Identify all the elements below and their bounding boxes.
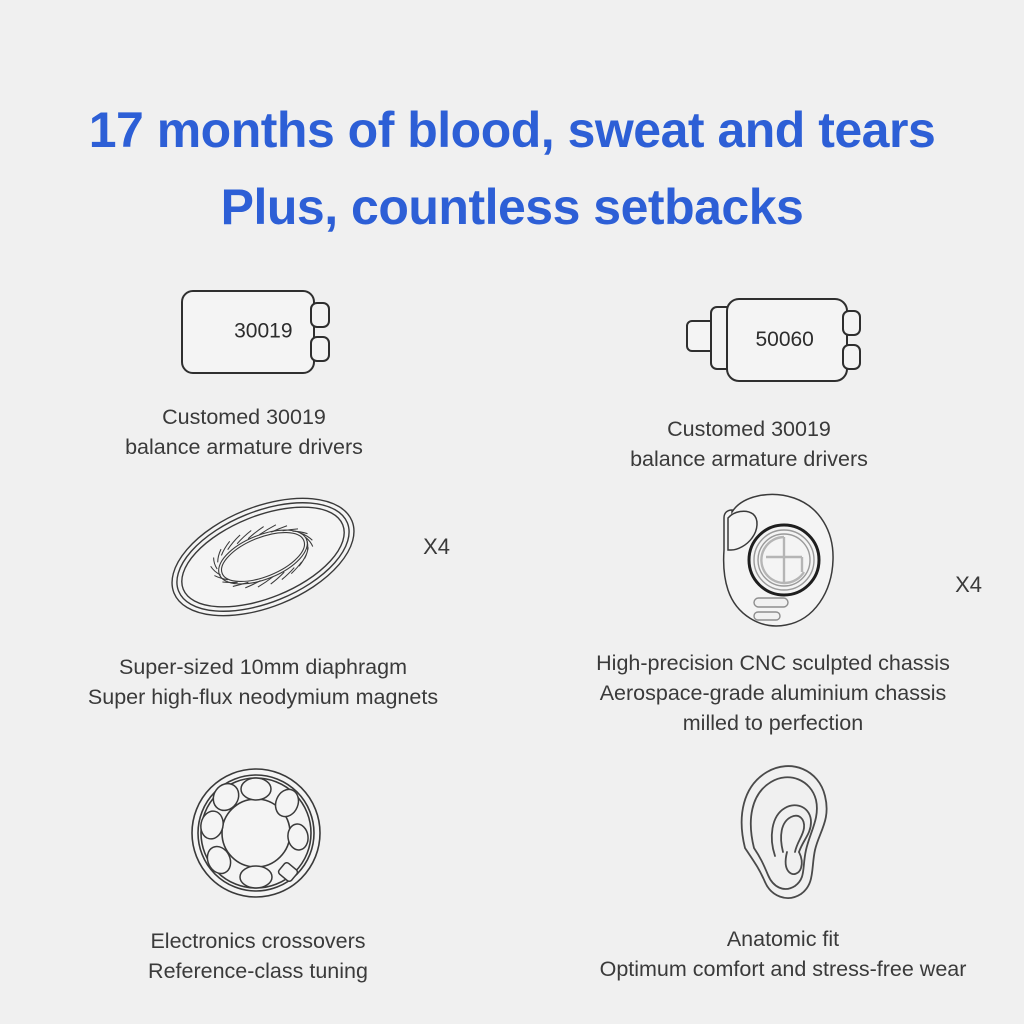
feature-chassis: High-precision CNC sculpted chassis Aero… bbox=[538, 484, 1008, 738]
feature-ear: Anatomic fit Optimum comfort and stress-… bbox=[548, 758, 1018, 984]
diaphragm-icon bbox=[158, 489, 368, 629]
crossover-art bbox=[48, 762, 468, 904]
driver-30019-art: 30019 bbox=[58, 272, 478, 392]
feature-driver-30019: 30019 Customed 30019 balance armature dr… bbox=[58, 272, 478, 462]
driver-30019-caption-wrap: Customed 30019 balance armature drivers … bbox=[58, 392, 478, 462]
crossover-caption: Electronics crossovers Reference-class t… bbox=[48, 904, 468, 986]
chassis-caption: High-precision CNC sculpted chassis Aero… bbox=[538, 634, 1008, 738]
balanced-armature-driver-icon bbox=[168, 277, 368, 387]
crossover-circuit-icon bbox=[188, 765, 328, 901]
feature-crossover: Electronics crossovers Reference-class t… bbox=[48, 762, 468, 986]
ear-icon bbox=[723, 760, 843, 906]
feature-grid: 30019 Customed 30019 balance armature dr… bbox=[0, 272, 1024, 1024]
diaphragm-art bbox=[28, 484, 498, 634]
title-line-1: 17 months of blood, sweat and tears bbox=[0, 92, 1024, 169]
balanced-armature-driver-dual-icon bbox=[665, 285, 895, 395]
chassis-art bbox=[538, 484, 1008, 634]
driver-50060-art: 50060 bbox=[570, 280, 990, 400]
driver-50060-caption-wrap: Customed 30019 balance armature drivers … bbox=[570, 400, 990, 474]
ear-art bbox=[548, 758, 1018, 908]
feature-driver-50060: 50060 Customed 30019 balance armature dr… bbox=[570, 280, 990, 474]
driver-30019-caption: Customed 30019 balance armature drivers bbox=[58, 392, 478, 462]
ear-caption: Anatomic fit Optimum comfort and stress-… bbox=[548, 908, 1018, 984]
feature-diaphragm: Super-sized 10mm diaphragm Super high-fl… bbox=[28, 484, 498, 712]
driver-50060-caption: Customed 30019 balance armature drivers bbox=[570, 400, 990, 474]
diaphragm-caption: Super-sized 10mm diaphragm Super high-fl… bbox=[28, 634, 498, 712]
page-title: 17 months of blood, sweat and tears Plus… bbox=[0, 92, 1024, 246]
title-line-2: Plus, countless setbacks bbox=[0, 169, 1024, 246]
cnc-chassis-icon bbox=[698, 488, 848, 630]
